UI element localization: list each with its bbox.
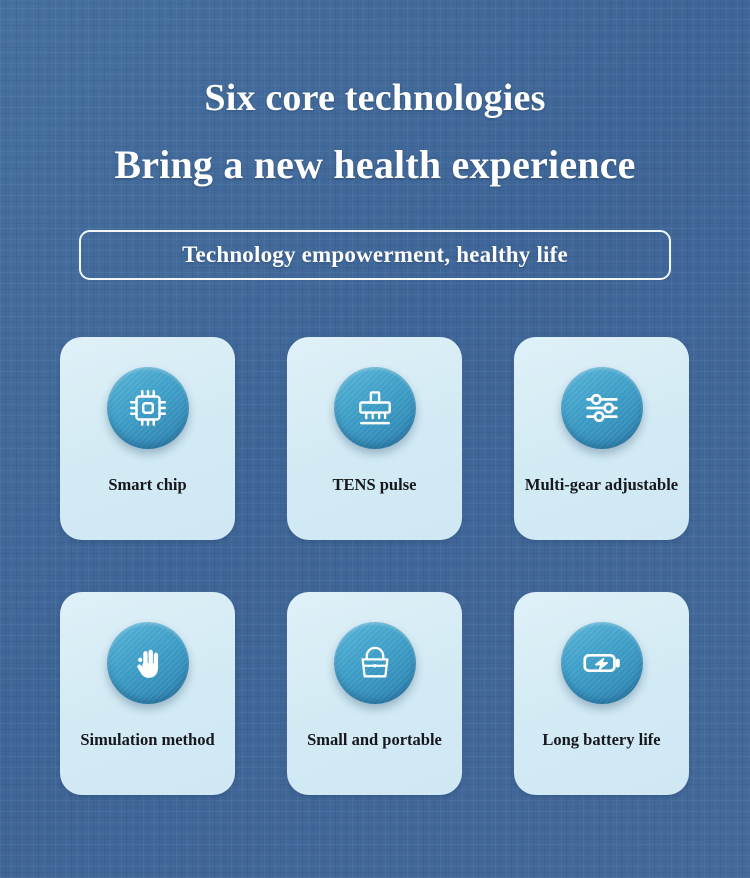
hand-palm-icon — [107, 622, 189, 704]
feature-card-small-portable[interactable]: Small and portable — [287, 592, 462, 795]
feature-label: Long battery life — [514, 730, 689, 750]
feature-label: Smart chip — [60, 475, 235, 495]
feature-label: Small and portable — [287, 730, 462, 750]
chip-icon — [107, 367, 189, 449]
headline-line-2: Bring a new health experience — [0, 139, 750, 191]
feature-label: Multi-gear adjustable — [514, 475, 689, 495]
feature-card-simulation-method[interactable]: Simulation method — [60, 592, 235, 795]
subtitle-box: Technology empowerment, healthy life — [79, 230, 671, 280]
feature-grid: Smart chip TENS pulse — [60, 337, 690, 795]
tens-electrode-icon — [334, 367, 416, 449]
battery-charging-icon — [561, 622, 643, 704]
feature-card-tens-pulse[interactable]: TENS pulse — [287, 337, 462, 540]
subtitle-text: Technology empowerment, healthy life — [182, 242, 568, 268]
sliders-icon — [561, 367, 643, 449]
feature-label: Simulation method — [60, 730, 235, 750]
headline-block: Six core technologies Bring a new health… — [0, 72, 750, 191]
promo-page: Six core technologies Bring a new health… — [0, 0, 750, 878]
feature-card-long-battery[interactable]: Long battery life — [514, 592, 689, 795]
feature-card-smart-chip[interactable]: Smart chip — [60, 337, 235, 540]
feature-label: TENS pulse — [287, 475, 462, 495]
feature-card-multi-gear[interactable]: Multi-gear adjustable — [514, 337, 689, 540]
headline-line-1: Six core technologies — [0, 72, 750, 124]
handbag-icon — [334, 622, 416, 704]
